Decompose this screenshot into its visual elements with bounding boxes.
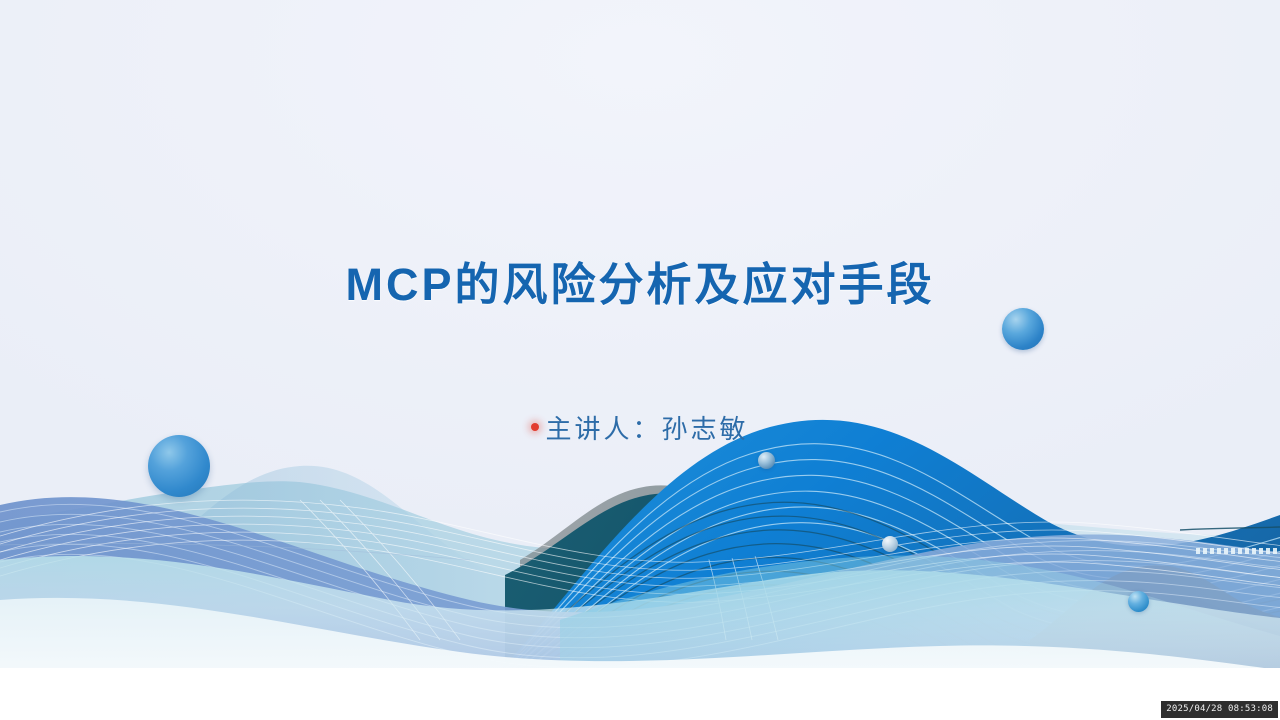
presenter-subtitle: 主讲人：孙志敏 <box>545 409 748 446</box>
decorative-sphere-title-right <box>1002 308 1044 350</box>
decorative-sphere-lower-right <box>1128 591 1149 612</box>
decorative-sphere-wave-small <box>882 536 898 552</box>
title-block: MCP的风险分析及应对手段 <box>0 258 1280 311</box>
title-slide: MCP的风险分析及应对手段 主讲人：孙志敏 2025/04/28 08:53:0… <box>0 0 1280 720</box>
background-wave-graphic <box>0 0 1280 720</box>
subtitle-row: 主讲人：孙志敏 <box>0 409 1280 446</box>
recording-timestamp: 2025/04/28 08:53:08 <box>1161 701 1278 718</box>
red-dot-marker-icon <box>531 423 539 431</box>
page-title: MCP的风险分析及应对手段 <box>0 258 1280 311</box>
decorative-sphere-mid-small <box>758 452 775 469</box>
